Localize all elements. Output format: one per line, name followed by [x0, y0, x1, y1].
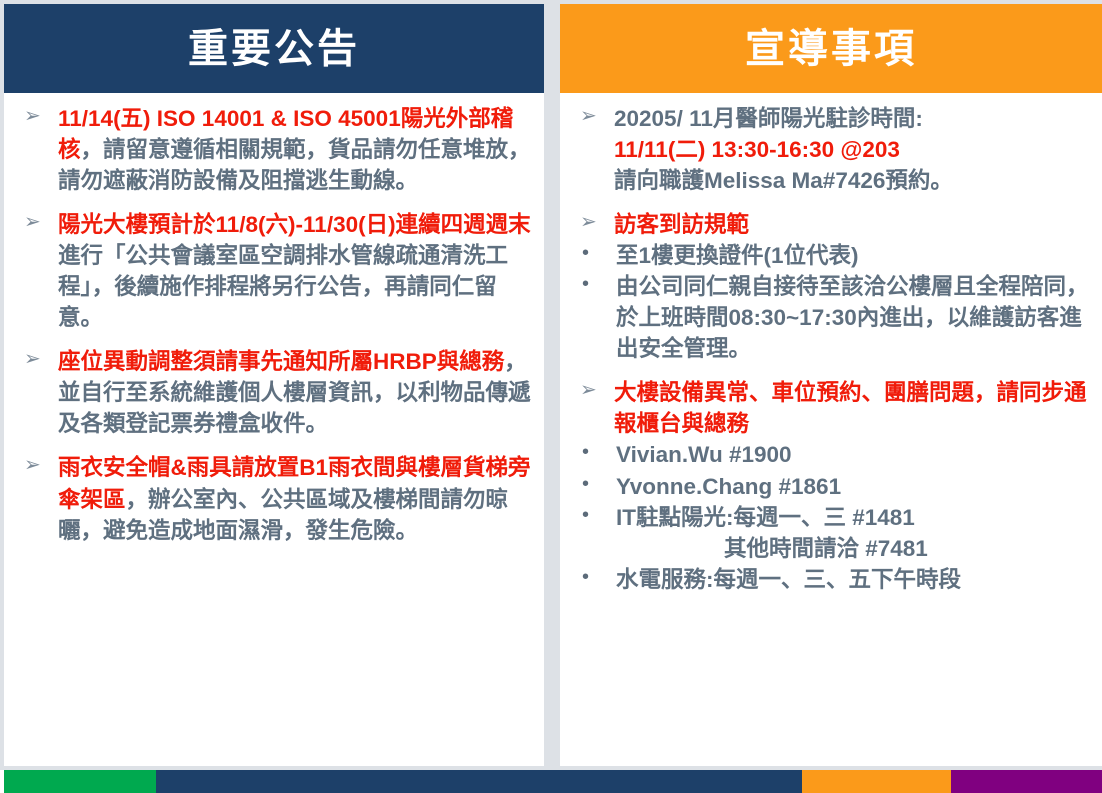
arrow-bullet-icon: ➢ [12, 452, 58, 480]
list-item: ➢ 陽光大樓預計於11/8(六)-11/30(日)連續四週週末進行「公共會議室區… [12, 209, 536, 333]
list-item: • Vivian.Wu #1900 [568, 439, 1094, 470]
bottom-bar-segment-green [4, 770, 156, 793]
guidance-items-body: ➢ 20205/ 11月醫師陽光駐診時間:11/11(二) 13:30-16:3… [560, 93, 1102, 766]
arrow-bullet-icon: ➢ [12, 346, 58, 374]
highlight-text: 訪客到訪規範 [614, 212, 749, 237]
list-item-text: 11/14(五) ISO 14001 & ISO 45001陽光外部稽核，請留意… [58, 103, 536, 196]
dot-bullet-icon: • [568, 502, 616, 530]
dot-bullet-icon: • [568, 240, 616, 268]
important-announcements-header: 重要公告 [4, 4, 544, 93]
important-announcements-title: 重要公告 [188, 29, 360, 69]
body-text: ，辦公室內、公共區域及樓梯間請勿晾曬，避免造成地面濕滑，發生危險。 [58, 487, 508, 543]
list-item: ➢ 11/14(五) ISO 14001 & ISO 45001陽光外部稽核，請… [12, 103, 536, 196]
list-item: • 水電服務:每週一、三、五下午時段 [568, 564, 1094, 595]
body-text: 20205/ 11月醫師陽光駐診時間: [614, 106, 923, 131]
list-item-text: Vivian.Wu #1900 [616, 439, 1094, 470]
bottom-color-bar [0, 770, 1102, 793]
list-item-text: 水電服務:每週一、三、五下午時段 [616, 564, 1094, 595]
body-text: ，請留意遵循相關規範，貨品請勿任意堆放，請勿遮蔽消防設備及阻擋逃生動線。 [58, 137, 531, 193]
list-item-text: 至1樓更換證件(1位代表) [616, 240, 1094, 271]
slide-canvas: 重要公告 ➢ 11/14(五) ISO 14001 & ISO 45001陽光外… [0, 0, 1102, 793]
list-item: ➢ 訪客到訪規範 [568, 209, 1094, 240]
guidance-items-title: 宣導事項 [745, 29, 917, 69]
highlight-text: 陽光大樓預計於11/8(六)-11/30(日)連續四週週末 [58, 212, 531, 237]
arrow-bullet-icon: ➢ [568, 377, 614, 405]
list-item-text: 大樓設備異常、車位預約、團膳問題，請同步通報櫃台與總務 [614, 377, 1094, 439]
highlight-text: 11/11(二) 13:30-16:30 @203 [614, 137, 900, 162]
arrow-bullet-icon: ➢ [12, 209, 58, 237]
highlight-text: 大樓設備異常、車位預約、團膳問題，請同步通報櫃台與總務 [614, 380, 1087, 436]
guidance-items-panel: 宣導事項 ➢ 20205/ 11月醫師陽光駐診時間:11/11(二) 13:30… [560, 4, 1102, 766]
list-item-text: 20205/ 11月醫師陽光駐診時間:11/11(二) 13:30-16:30 … [614, 103, 1094, 196]
dot-bullet-icon: • [568, 271, 616, 299]
list-item-text: 訪客到訪規範 [614, 209, 1094, 240]
list-item: • 由公司同仁親自接待至該洽公樓層且全程陪同，於上班時間08:30~17:30內… [568, 271, 1094, 364]
dot-bullet-icon: • [568, 471, 616, 499]
dot-bullet-icon: • [568, 439, 616, 467]
bottom-bar-segment-orange [802, 770, 951, 793]
important-announcements-panel: 重要公告 ➢ 11/14(五) ISO 14001 & ISO 45001陽光外… [4, 4, 544, 766]
highlight-text: 座位異動調整須請事先通知所屬HRBP與總務 [58, 349, 504, 374]
arrow-bullet-icon: ➢ [568, 209, 614, 237]
list-item: ➢ 20205/ 11月醫師陽光駐診時間:11/11(二) 13:30-16:3… [568, 103, 1094, 196]
body-text: IT駐點陽光:每週一、三 #1481 [616, 505, 915, 530]
list-item-text: IT駐點陽光:每週一、三 #1481其他時間請洽 #7481 [616, 502, 1094, 564]
list-item-text: Yvonne.Chang #1861 [616, 471, 1094, 502]
bottom-bar-segment-purple [951, 770, 1102, 793]
body-text: 進行「公共會議室區空調排水管線疏通清洗工程」，後續施作排程將另行公告，再請同仁留… [58, 243, 508, 330]
list-item-text: 座位異動調整須請事先通知所屬HRBP與總務，並自行至系統維護個人樓層資訊，以利物… [58, 346, 536, 439]
dot-bullet-icon: • [568, 564, 616, 592]
list-item: ➢ 雨衣安全帽&雨具請放置B1雨衣間與樓層貨梯旁傘架區，辦公室內、公共區域及樓梯… [12, 452, 536, 545]
body-text: 請向職護Melissa Ma#7426預約。 [614, 168, 953, 193]
list-item: • Yvonne.Chang #1861 [568, 471, 1094, 502]
arrow-bullet-icon: ➢ [568, 103, 614, 131]
guidance-items-header: 宣導事項 [560, 4, 1102, 93]
list-item: ➢ 大樓設備異常、車位預約、團膳問題，請同步通報櫃台與總務 [568, 377, 1094, 439]
list-item-text: 雨衣安全帽&雨具請放置B1雨衣間與樓層貨梯旁傘架區，辦公室內、公共區域及樓梯間請… [58, 452, 536, 545]
list-item: • 至1樓更換證件(1位代表) [568, 240, 1094, 271]
important-announcements-body: ➢ 11/14(五) ISO 14001 & ISO 45001陽光外部稽核，請… [4, 93, 544, 766]
arrow-bullet-icon: ➢ [12, 103, 58, 131]
list-item-text: 陽光大樓預計於11/8(六)-11/30(日)連續四週週末進行「公共會議室區空調… [58, 209, 536, 333]
list-item: ➢ 座位異動調整須請事先通知所屬HRBP與總務，並自行至系統維護個人樓層資訊，以… [12, 346, 536, 439]
list-item-text: 由公司同仁親自接待至該洽公樓層且全程陪同，於上班時間08:30~17:30內進出… [616, 271, 1094, 364]
bottom-bar-segment-navy [156, 770, 802, 793]
list-item: • IT駐點陽光:每週一、三 #1481其他時間請洽 #7481 [568, 502, 1094, 564]
secondary-text: 其他時間請洽 #7481 [616, 533, 1094, 564]
